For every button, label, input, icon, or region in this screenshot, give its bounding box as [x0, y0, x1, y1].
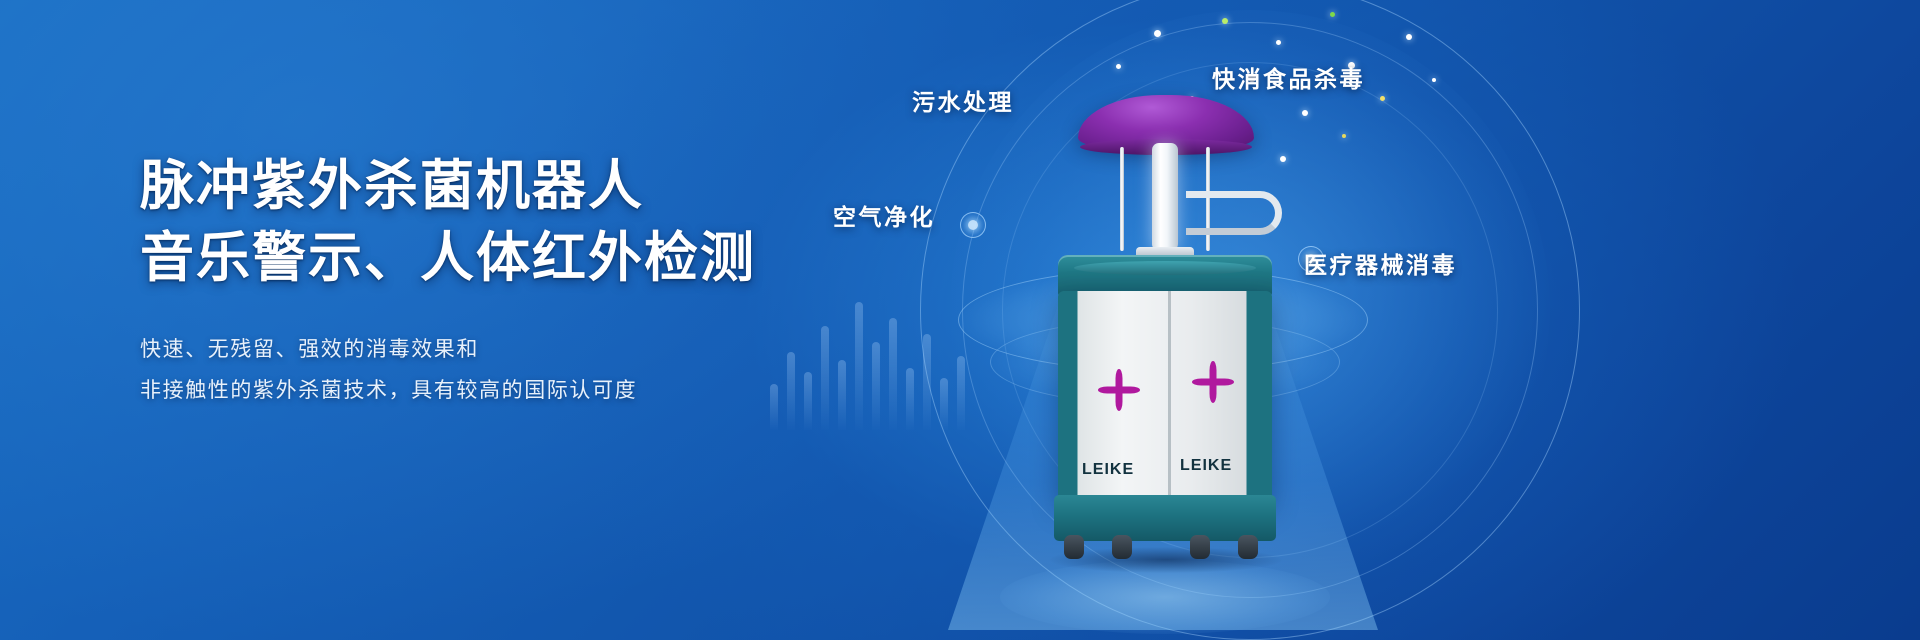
push-handle: [1186, 191, 1282, 235]
uv-lamp-tube: [1152, 143, 1178, 251]
brand-text-left: LEIKE: [1082, 461, 1134, 479]
caster-wheel-icon: [1064, 535, 1084, 559]
subcopy-line-1: 快速、无残留、强效的消毒效果和: [140, 329, 900, 370]
uv-disinfection-robot-image: LEIKE LEIKE: [1040, 95, 1290, 575]
label-medical-device-disinfection: 医疗器械消毒: [1304, 246, 1457, 280]
arc-node-icon: [960, 212, 986, 238]
hero-subcopy: 快速、无残留、强效的消毒效果和 非接触性的紫外杀菌技术，具有较高的国际认可度: [140, 329, 900, 411]
label-wastewater-treatment: 污水处理: [912, 83, 1014, 117]
caster-wheel-icon: [1112, 535, 1132, 559]
subcopy-line-2: 非接触性的紫外杀菌技术，具有较高的国际认可度: [140, 370, 900, 411]
label-fmcg-food-disinfection: 快消食品杀毒: [1212, 60, 1365, 94]
robot-base: [1054, 495, 1276, 541]
headline-line-2: 音乐警示、人体红外检测: [140, 222, 900, 294]
sparkle-logo-icon: [1192, 361, 1234, 403]
sparkle-logo-icon: [1098, 369, 1140, 411]
hero-headline: 脉冲紫外杀菌机器人 音乐警示、人体红外检测: [140, 150, 900, 295]
robot-top-cap-face: [1074, 261, 1256, 275]
caster-wheel-icon: [1190, 535, 1210, 559]
label-air-purification: 空气净化: [833, 198, 935, 232]
hero-copy: 脉冲紫外杀菌机器人 音乐警示、人体红外检测 快速、无残留、强效的消毒效果和 非接…: [140, 150, 900, 411]
hero-banner: 脉冲紫外杀菌机器人 音乐警示、人体红外检测 快速、无残留、强效的消毒效果和 非接…: [0, 0, 1920, 640]
brand-text-right: LEIKE: [1180, 457, 1232, 475]
lamp-support-rod: [1120, 147, 1124, 251]
caster-wheel-icon: [1238, 535, 1258, 559]
robot-body-seam: [1168, 291, 1171, 503]
headline-line-1: 脉冲紫外杀菌机器人: [140, 150, 900, 222]
